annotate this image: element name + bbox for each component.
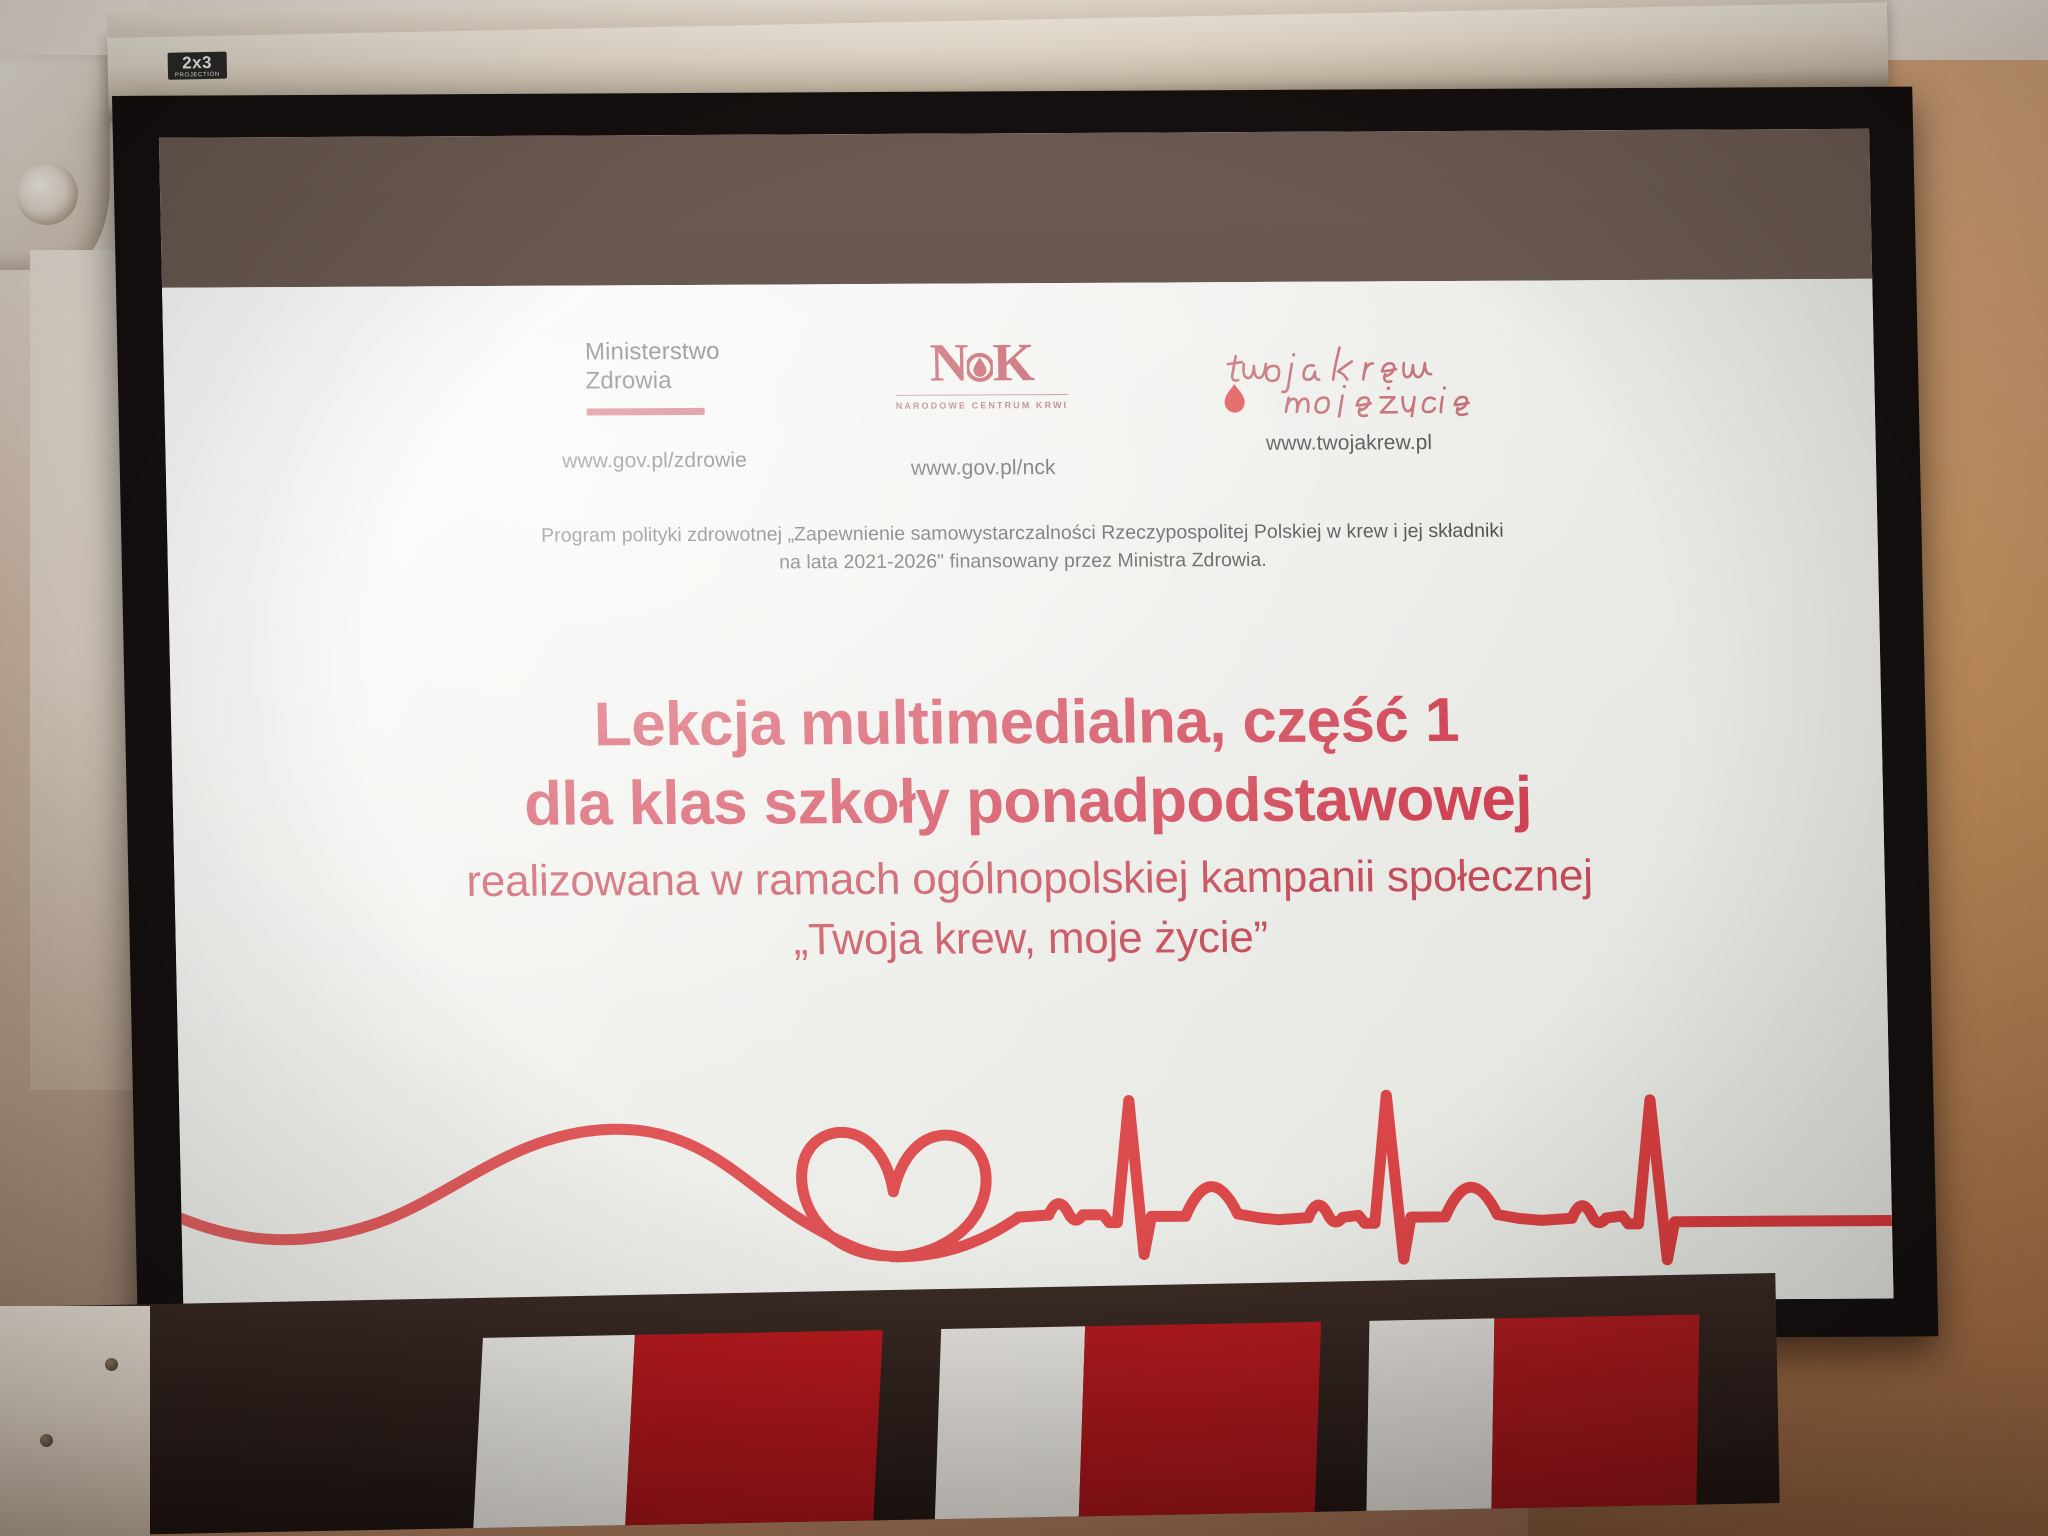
room-photo-scene: 2x3 PROJECTION Ministerstwo Zdrowia: [0, 0, 2048, 1536]
logo-ministry-of-health: Ministerstwo Zdrowia www.gov.pl/zdrowie: [560, 337, 748, 473]
flag-white-band: [935, 1326, 1086, 1519]
ministry-logo-mark: Ministerstwo Zdrowia: [585, 337, 721, 415]
logo-twoja-krew: www.twojakrew.pl: [1217, 333, 1480, 456]
flag-white-band: [473, 1335, 635, 1528]
drawer-knob[interactable]: [105, 1358, 118, 1371]
flag-red-band: [1079, 1322, 1321, 1517]
blood-drop-icon: [1224, 384, 1245, 413]
ecg-heartbeat-svg: [177, 1005, 1893, 1308]
screen-brand-label: 2x3: [182, 53, 212, 73]
logo-nck: NK NARODOWE CENTRUM KRWI www.gov.pl/nck: [894, 335, 1069, 481]
nck-letter-k: K: [992, 332, 1033, 392]
polish-flag: [473, 1330, 883, 1528]
cabinet-drawers[interactable]: [0, 1306, 150, 1536]
ministry-url[interactable]: www.gov.pl/zdrowie: [562, 448, 747, 473]
nck-logo-mark: NK: [929, 335, 1033, 390]
screen-brand-sub: PROJECTION: [175, 72, 220, 79]
ecg-heartbeat-graphic: [177, 1005, 1893, 1308]
page-title-line1: Lekcja multimedialna, część 1: [170, 679, 1882, 767]
program-funding-note: Program polityki zdrowotnej „Zapewnienie…: [167, 515, 1878, 580]
screen-surface: Ministerstwo Zdrowia www.gov.pl/zdrowie …: [159, 129, 1894, 1308]
ministry-name-line1: Ministerstwo: [585, 337, 720, 367]
drawer-knob[interactable]: [40, 1434, 53, 1447]
screen-brand-badge: 2x3 PROJECTION: [168, 52, 227, 80]
polish-flag: [1366, 1314, 1699, 1510]
flag-red-band: [625, 1330, 883, 1525]
page-title-line2: dla klas szkoły ponadpodstawowej: [172, 758, 1884, 846]
projection-screen: Ministerstwo Zdrowia www.gov.pl/zdrowie …: [112, 87, 1938, 1346]
twoja-krew-logo-mark: [1217, 333, 1479, 418]
flag-red-band: [1492, 1314, 1700, 1508]
ministry-red-rule: [586, 407, 704, 415]
page-subtitle-line2: „Twoja krew, moje życie”: [175, 904, 1886, 975]
furniture-below-screen: [56, 1273, 1780, 1536]
cornice-ornament: [0, 55, 110, 270]
twoja-krew-script-svg: [1217, 333, 1479, 418]
nck-letter-n: N: [929, 333, 967, 393]
polish-flag: [935, 1322, 1321, 1519]
nck-url[interactable]: www.gov.pl/nck: [911, 456, 1056, 481]
blood-drop-icon: [966, 350, 993, 384]
projector-letterbox-band: [159, 129, 1872, 288]
slide-title-block: Lekcja multimedialna, część 1 dla klas s…: [170, 679, 1886, 976]
logo-row: Ministerstwo Zdrowia www.gov.pl/zdrowie …: [163, 331, 1876, 485]
page-subtitle-line1: realizowana w ramach ogólnopolskiej kamp…: [174, 843, 1885, 914]
ministry-name-line2: Zdrowia: [585, 366, 672, 396]
nck-subtitle: NARODOWE CENTRUM KRWI: [896, 394, 1069, 411]
presentation-slide: Ministerstwo Zdrowia www.gov.pl/zdrowie …: [162, 279, 1894, 1308]
flag-white-band: [1366, 1318, 1494, 1510]
twoja-krew-url[interactable]: www.twojakrew.pl: [1266, 431, 1433, 456]
housing-top-rail: [107, 0, 1887, 38]
